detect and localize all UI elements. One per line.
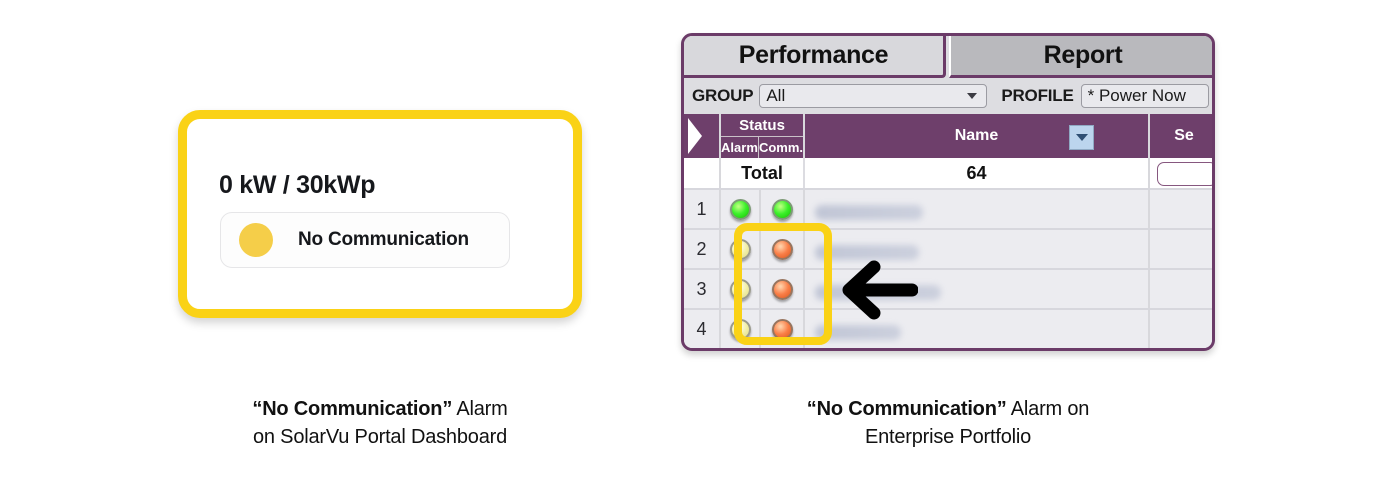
se-cell	[1149, 309, 1215, 349]
se-cell	[1149, 269, 1215, 309]
row-index: 2	[684, 229, 720, 269]
alarm-led-pale-icon	[730, 319, 751, 340]
alarm-status-cell[interactable]	[720, 309, 760, 349]
table-header-row: Status Alarm Comm. Name Se	[684, 114, 1215, 158]
caption-left-line2: on SolarVu Portal Dashboard	[253, 426, 507, 448]
site-name-cell[interactable]	[804, 189, 1149, 229]
caption-left-rest: Alarm	[452, 398, 507, 420]
profile-label: PROFILE	[1001, 86, 1073, 106]
column-header-name[interactable]: Name	[804, 114, 1149, 158]
solarvu-dashboard-card-group: 0 kW / 30kWp No Communication	[178, 110, 582, 318]
tab-performance[interactable]: Performance	[684, 36, 946, 78]
comm-status-cell[interactable]	[760, 269, 804, 309]
alarm-status-cell[interactable]	[720, 189, 760, 229]
column-header-alarm[interactable]: Alarm	[721, 137, 759, 158]
caption-left: “No Communication” Alarm on SolarVu Port…	[180, 395, 580, 452]
alarm-led-green-icon	[730, 199, 751, 220]
alarm-status-dot-icon	[239, 223, 273, 257]
caption-left-quote: “No Communication”	[252, 398, 452, 420]
group-select[interactable]: All	[759, 84, 987, 108]
caption-right: “No Communication” Alarm on Enterprise P…	[748, 395, 1148, 452]
alarm-status-cell[interactable]	[720, 229, 760, 269]
portfolio-table: Status Alarm Comm. Name Se	[684, 114, 1215, 350]
group-label: GROUP	[692, 86, 753, 106]
table-header: Status Alarm Comm. Name Se	[684, 114, 1215, 158]
expand-arrow-icon	[688, 118, 702, 154]
row-index: 4	[684, 309, 720, 349]
tab-performance-label: Performance	[739, 41, 889, 70]
name-filter-button[interactable]	[1069, 125, 1094, 150]
table-row[interactable]: 2	[684, 229, 1215, 269]
row-index: 1	[684, 189, 720, 229]
alarm-led-pale-icon	[730, 279, 751, 300]
tab-bar: Performance Report	[684, 36, 1212, 78]
redacted-site-name	[815, 205, 923, 220]
table-row[interactable]: 3	[684, 269, 1215, 309]
total-se-cell	[1149, 158, 1215, 189]
column-header-name-label: Name	[955, 127, 999, 144]
column-header-status: Status Alarm Comm.	[720, 114, 804, 158]
row-index: 3	[684, 269, 720, 309]
group-select-value: All	[760, 86, 785, 106]
alarm-status-pill[interactable]: No Communication	[220, 212, 510, 268]
comm-status-cell[interactable]	[760, 309, 804, 349]
tab-report[interactable]: Report	[949, 36, 1215, 78]
comm-led-orange-icon	[772, 239, 793, 260]
comm-status-cell[interactable]	[760, 229, 804, 269]
total-label: Total	[720, 158, 804, 189]
column-header-comm[interactable]: Comm.	[759, 137, 803, 158]
table-total-row: Total 64	[684, 158, 1215, 189]
caption-right-line2: Enterprise Portfolio	[865, 426, 1031, 448]
chevron-down-icon	[967, 93, 977, 99]
table-row[interactable]: 1	[684, 189, 1215, 229]
table-body: Total 64 1234	[684, 158, 1215, 349]
comm-led-orange-icon	[772, 279, 793, 300]
comm-led-orange-icon	[772, 319, 793, 340]
pointer-arrow-icon	[838, 258, 918, 322]
profile-select[interactable]: * Power Now	[1081, 84, 1209, 108]
total-se-field[interactable]	[1157, 162, 1215, 186]
comm-led-green-icon	[772, 199, 793, 220]
column-header-se[interactable]: Se	[1149, 114, 1215, 158]
chevron-down-icon	[1076, 134, 1088, 141]
column-header-status-label: Status	[721, 114, 803, 137]
dashboard-card: 0 kW / 30kWp No Communication	[178, 110, 582, 318]
power-value: 0 kW / 30kWp	[219, 171, 375, 200]
table-row[interactable]: 4	[684, 309, 1215, 349]
caption-right-quote: “No Communication”	[807, 398, 1007, 420]
filter-bar: GROUP All PROFILE * Power Now	[684, 81, 1212, 111]
se-cell	[1149, 229, 1215, 269]
se-cell	[1149, 189, 1215, 229]
alarm-led-pale-icon	[730, 239, 751, 260]
alarm-status-label: No Communication	[298, 229, 469, 251]
alarm-status-cell[interactable]	[720, 269, 760, 309]
column-header-index[interactable]	[684, 114, 720, 158]
profile-select-value: * Power Now	[1082, 86, 1186, 106]
redacted-site-name	[815, 325, 901, 340]
total-index-cell	[684, 158, 720, 189]
caption-right-rest: Alarm on	[1007, 398, 1090, 420]
tab-report-label: Report	[1044, 41, 1123, 70]
comm-status-cell[interactable]	[760, 189, 804, 229]
total-count: 64	[804, 158, 1149, 189]
enterprise-portfolio-panel: Performance Report GROUP All PROFILE * P…	[681, 33, 1215, 351]
